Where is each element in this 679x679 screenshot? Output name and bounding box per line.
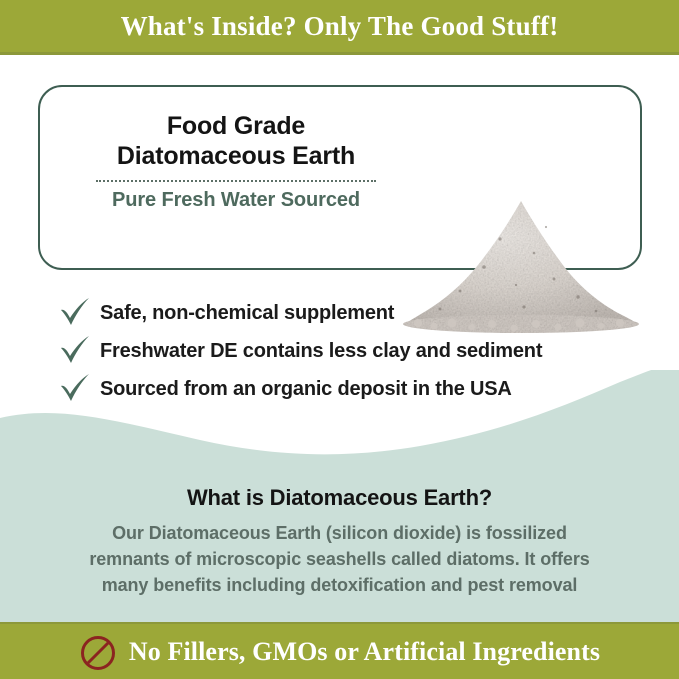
- check-icon: [58, 297, 92, 327]
- explainer-line-2: remnants of microscopic seashells called…: [50, 546, 629, 572]
- benefit-list: Safe, non-chemical supplement Freshwater…: [58, 294, 658, 408]
- list-item: Sourced from an organic deposit in the U…: [58, 370, 658, 408]
- bottom-banner-title: No Fillers, GMOs or Artificial Ingredien…: [129, 637, 600, 667]
- list-item: Safe, non-chemical supplement: [58, 294, 658, 332]
- explainer-heading: What is Diatomaceous Earth?: [50, 485, 629, 511]
- product-card: Food Grade Diatomaceous Earth Pure Fresh…: [38, 85, 642, 270]
- dotted-divider: [96, 180, 376, 182]
- explainer-line-1: Our Diatomaceous Earth (silicon dioxide)…: [50, 520, 629, 546]
- check-icon: [58, 335, 92, 365]
- list-item-label: Freshwater DE contains less clay and sed…: [100, 340, 542, 363]
- list-item: Freshwater DE contains less clay and sed…: [58, 332, 658, 370]
- bottom-banner: No Fillers, GMOs or Artificial Ingredien…: [0, 622, 679, 679]
- top-banner: What's Inside? Only The Good Stuff!: [0, 0, 679, 55]
- product-title-line1: Food Grade: [96, 111, 376, 141]
- explainer-line-3: many benefits including detoxification a…: [50, 572, 629, 598]
- prohibition-icon: [79, 634, 117, 672]
- top-banner-title: What's Inside? Only The Good Stuff!: [0, 0, 679, 52]
- product-title-line2: Diatomaceous Earth: [96, 141, 376, 171]
- list-item-label: Safe, non-chemical supplement: [100, 302, 394, 325]
- list-item-label: Sourced from an organic deposit in the U…: [100, 378, 512, 401]
- product-card-text: Food Grade Diatomaceous Earth Pure Fresh…: [96, 111, 376, 212]
- product-subtitle: Pure Fresh Water Sourced: [96, 189, 376, 212]
- check-icon: [58, 373, 92, 403]
- explainer-section: What is Diatomaceous Earth? Our Diatomac…: [50, 485, 629, 598]
- product-infographic: What's Inside? Only The Good Stuff! Food…: [0, 0, 679, 679]
